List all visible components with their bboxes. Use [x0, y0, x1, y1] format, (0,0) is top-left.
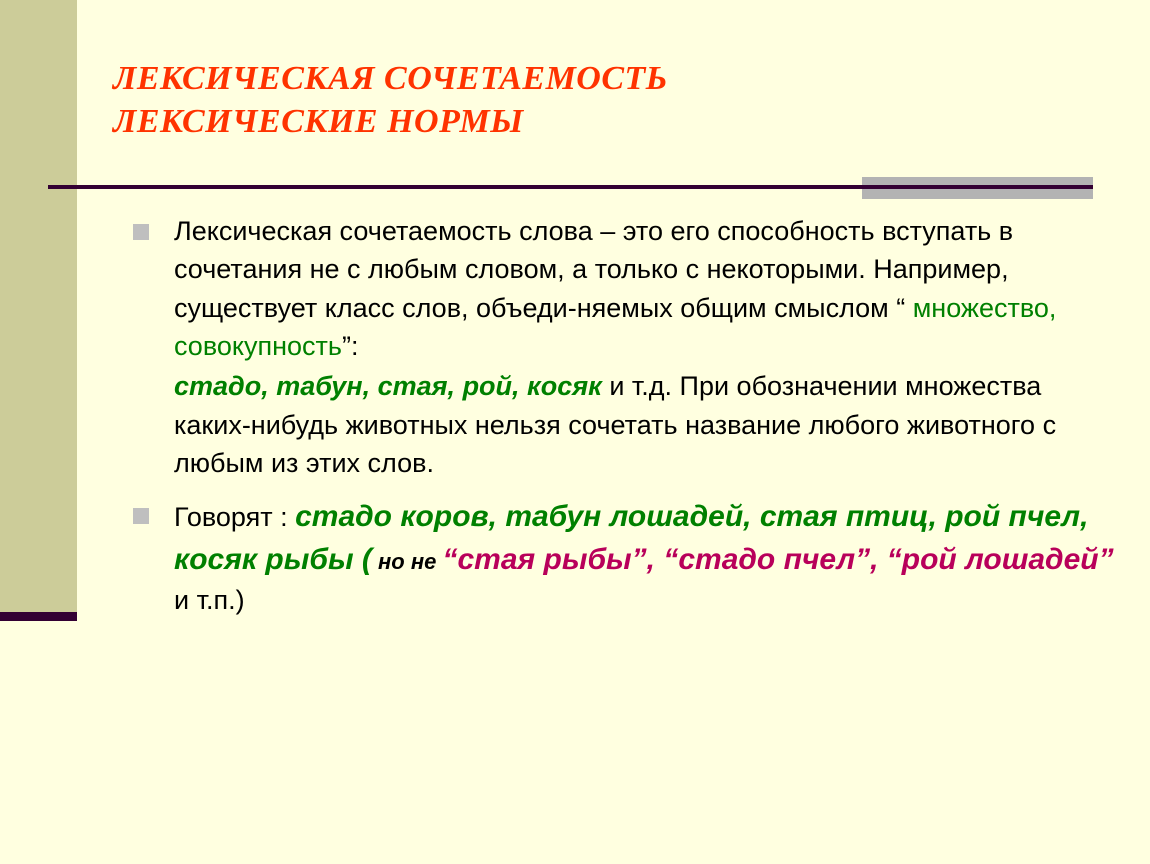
page-title: ЛЕКСИЧЕСКАЯ СОЧЕТАЕМОСТЬ ЛЕКСИЧЕСКИЕ НОР…	[113, 58, 1073, 144]
header-divider-rule	[48, 185, 1093, 189]
slide-body: Лексическая сочетаемость слова – это его…	[124, 212, 1124, 622]
bullet-item-definition: Лексическая сочетаемость слова – это его…	[124, 212, 1124, 365]
title-line-2: ЛЕКСИЧЕСКИЕ НОРМЫ	[113, 101, 1073, 144]
examples-paragraph: стадо, табун, стая, рой, косяк и т.д. Пр…	[124, 367, 1124, 482]
decorative-left-band-footer	[0, 612, 77, 621]
usage-lead-text: Говорят :	[174, 502, 295, 532]
decorative-left-band	[0, 0, 77, 612]
title-line-1: ЛЕКСИЧЕСКАЯ СОЧЕТАЕМОСТЬ	[113, 58, 1073, 101]
square-bullet-icon	[133, 224, 149, 240]
definition-paragraph: Лексическая сочетаемость слова – это его…	[174, 212, 1124, 365]
definition-text-part-3: ”:	[342, 331, 359, 361]
usage-tail-text: и т.п.)	[174, 585, 245, 615]
square-bullet-icon	[133, 508, 149, 524]
slide: ЛЕКСИЧЕСКАЯ СОЧЕТАЕМОСТЬ ЛЕКСИЧЕСКИЕ НОР…	[0, 0, 1150, 864]
bullet-item-usage: Говорят : стадо коров, табун лошадей, ст…	[124, 496, 1124, 620]
incorrect-collocations: “стая рыбы”, “стадо пчел”, “рой лошадей”	[442, 543, 1113, 576]
definition-text-part-2: няемых общим смыслом “	[577, 293, 913, 323]
usage-paragraph: Говорят : стадо коров, табун лошадей, ст…	[174, 496, 1124, 620]
contrast-marker-text: но не	[372, 549, 443, 574]
collective-nouns-list: стадо, табун, стая, рой, косяк	[174, 371, 602, 401]
